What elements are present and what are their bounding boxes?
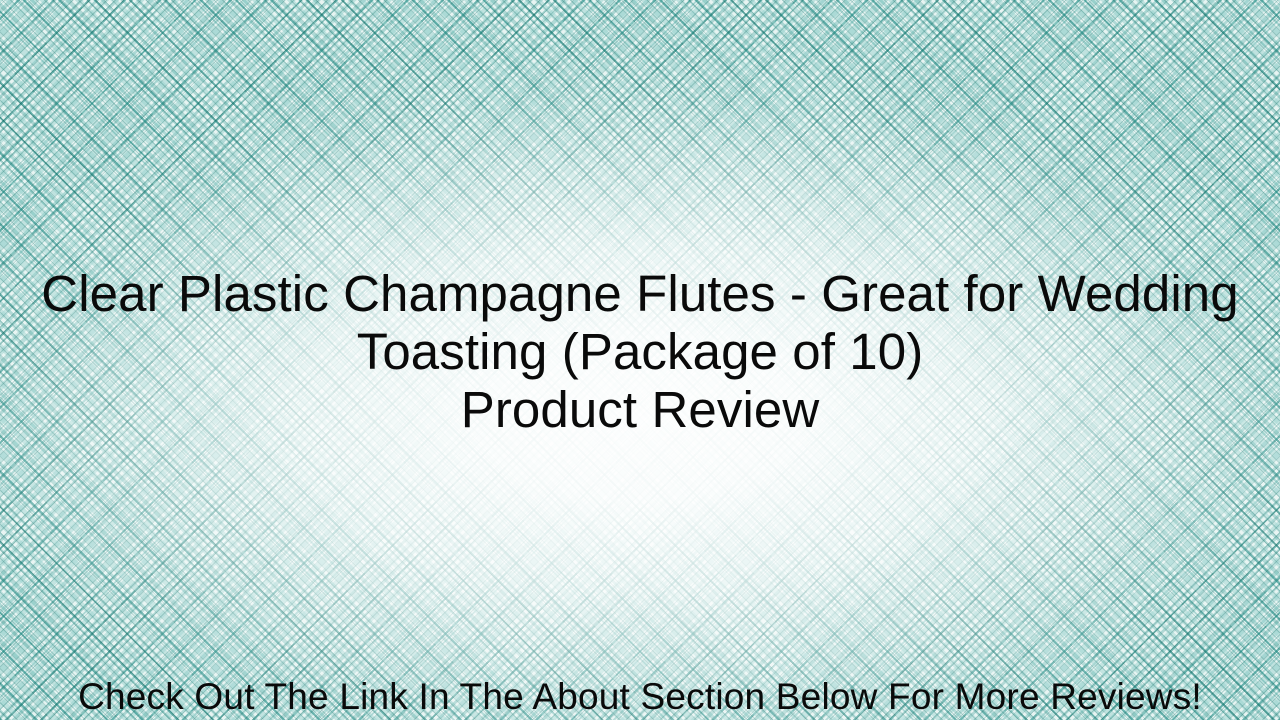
call-to-action-text: Check Out The Link In The About Section … [0,671,1280,720]
text-layer: Clear Plastic Champagne Flutes - Great f… [0,0,1280,720]
title-line-3: Product Review [30,381,1250,439]
title-line-1: Clear Plastic Champagne Flutes - Great f… [30,265,1250,323]
title-line-2: Toasting (Package of 10) [30,323,1250,381]
thumbnail-canvas: Clear Plastic Champagne Flutes - Great f… [0,0,1280,720]
product-title: Clear Plastic Champagne Flutes - Great f… [0,265,1280,439]
